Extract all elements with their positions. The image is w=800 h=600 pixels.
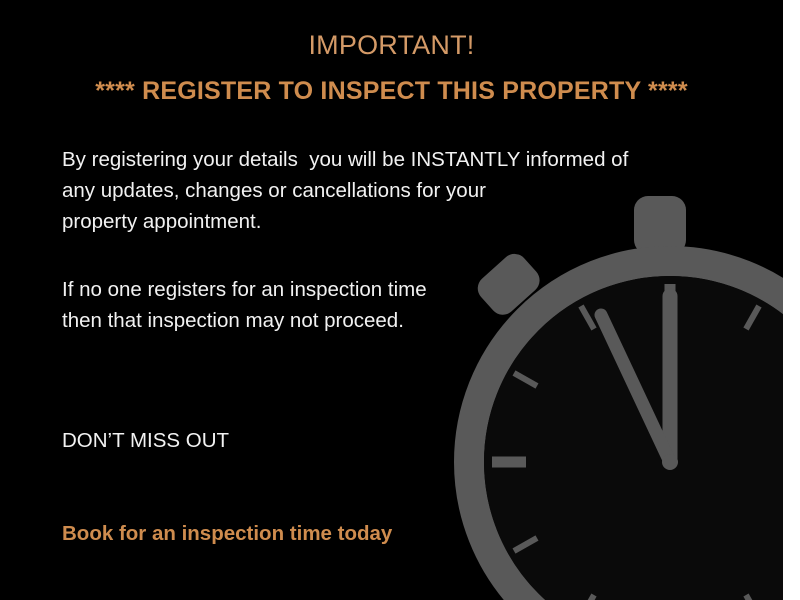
stopwatch-tick-marks	[492, 284, 783, 600]
stopwatch-side-button-icon	[472, 249, 545, 321]
poster-canvas: IMPORTANT! **** REGISTER TO INSPECT THIS…	[0, 0, 800, 600]
call-to-action-block: DON’T MISS OUT Book for an inspection ti…	[62, 363, 392, 600]
paragraph-no-registration-warning: If no one registers for an inspection ti…	[62, 274, 427, 336]
poster-panel: IMPORTANT! **** REGISTER TO INSPECT THIS…	[0, 0, 783, 600]
cta-book-inspection: Book for an inspection time today	[62, 518, 392, 549]
stopwatch-bezel-ring	[469, 261, 783, 600]
cta-dont-miss-out: DON’T MISS OUT	[62, 425, 392, 456]
headline-register-to-inspect: **** REGISTER TO INSPECT THIS PROPERTY *…	[0, 77, 783, 106]
stopwatch-dial-face	[484, 276, 783, 600]
paragraph-registering-benefits: By registering your details you will be …	[62, 144, 628, 237]
stopwatch-center-pivot	[662, 454, 678, 470]
stopwatch-crown-icon	[634, 196, 686, 254]
headline-important: IMPORTANT!	[0, 30, 783, 61]
stopwatch-hour-hand	[601, 315, 670, 462]
